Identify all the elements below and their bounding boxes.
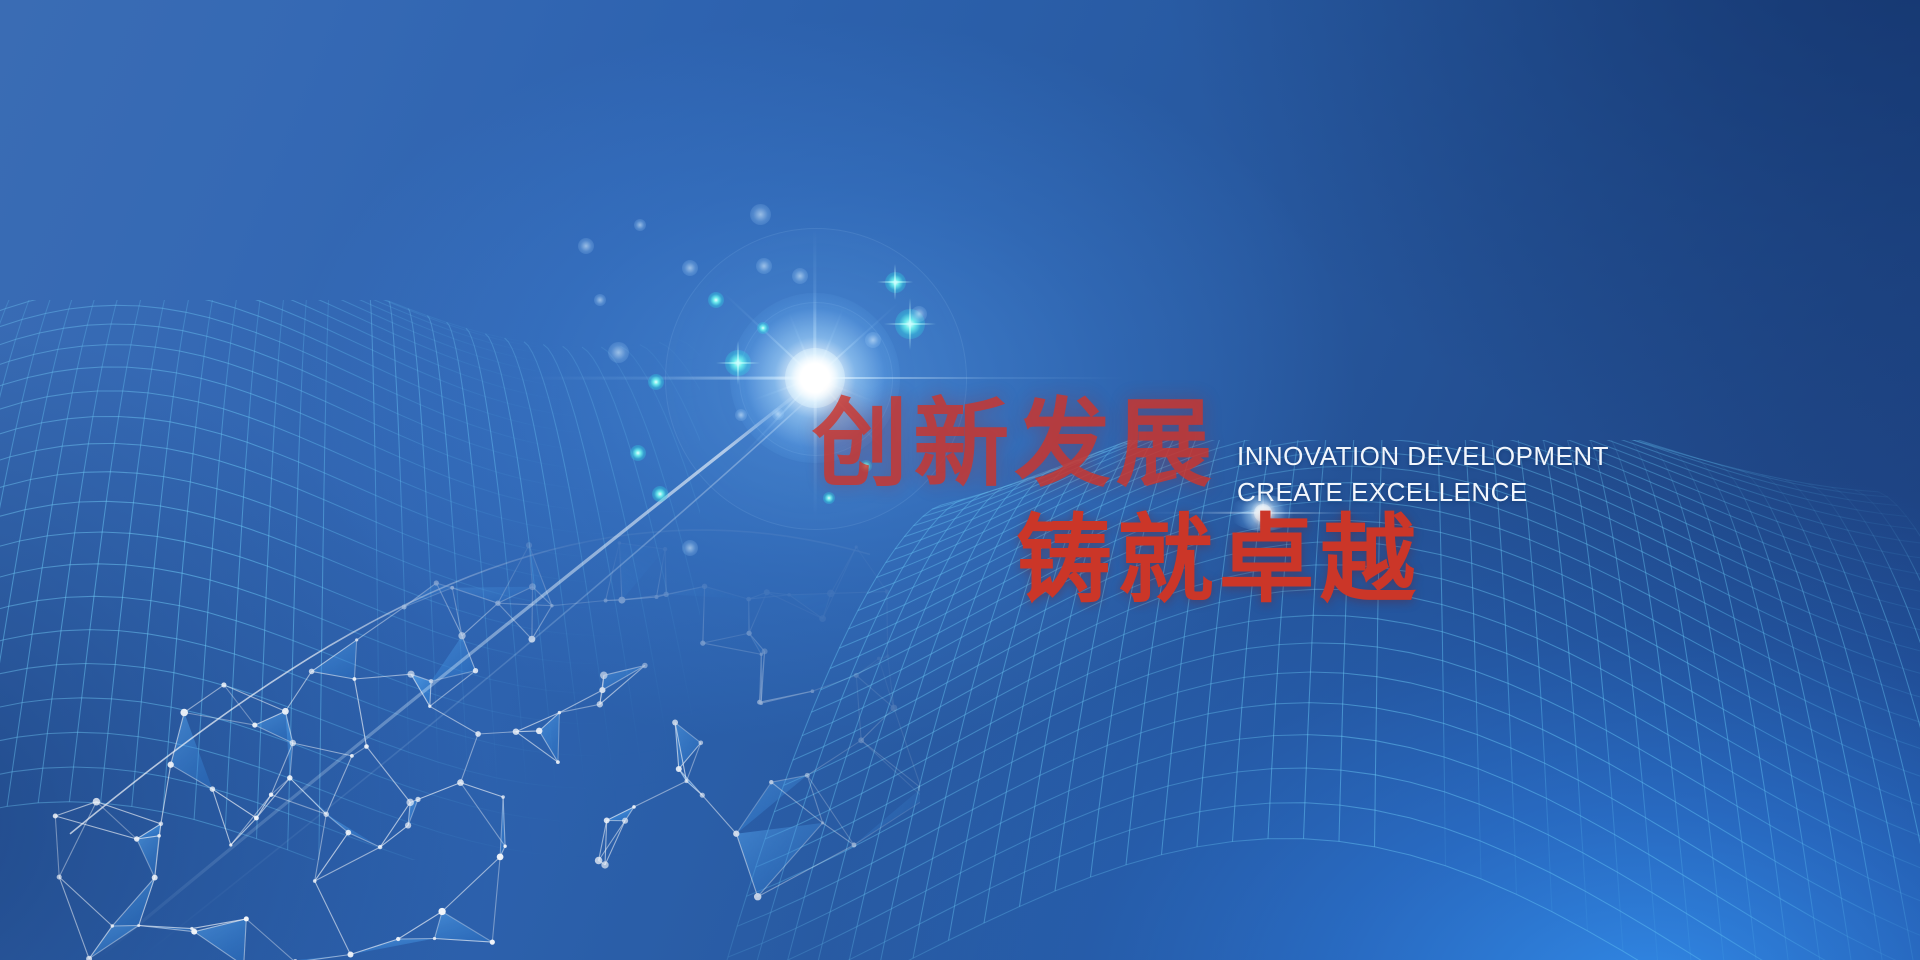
subheadline-english-line-2: CREATE EXCELLENCE [1237,477,1528,508]
headline-chinese-line-2: 铸就卓越 [1016,508,1421,612]
headline-chinese-line-1: 创新发展 [812,392,1217,496]
subheadline-english-line-1: INNOVATION DEVELOPMENT [1237,441,1609,472]
innovation-banner: 创新发展 铸就卓越 INNOVATION DEVELOPMENT CREATE … [0,0,1920,960]
headline-text-block: 创新发展 铸就卓越 INNOVATION DEVELOPMENT CREATE … [0,0,1920,960]
